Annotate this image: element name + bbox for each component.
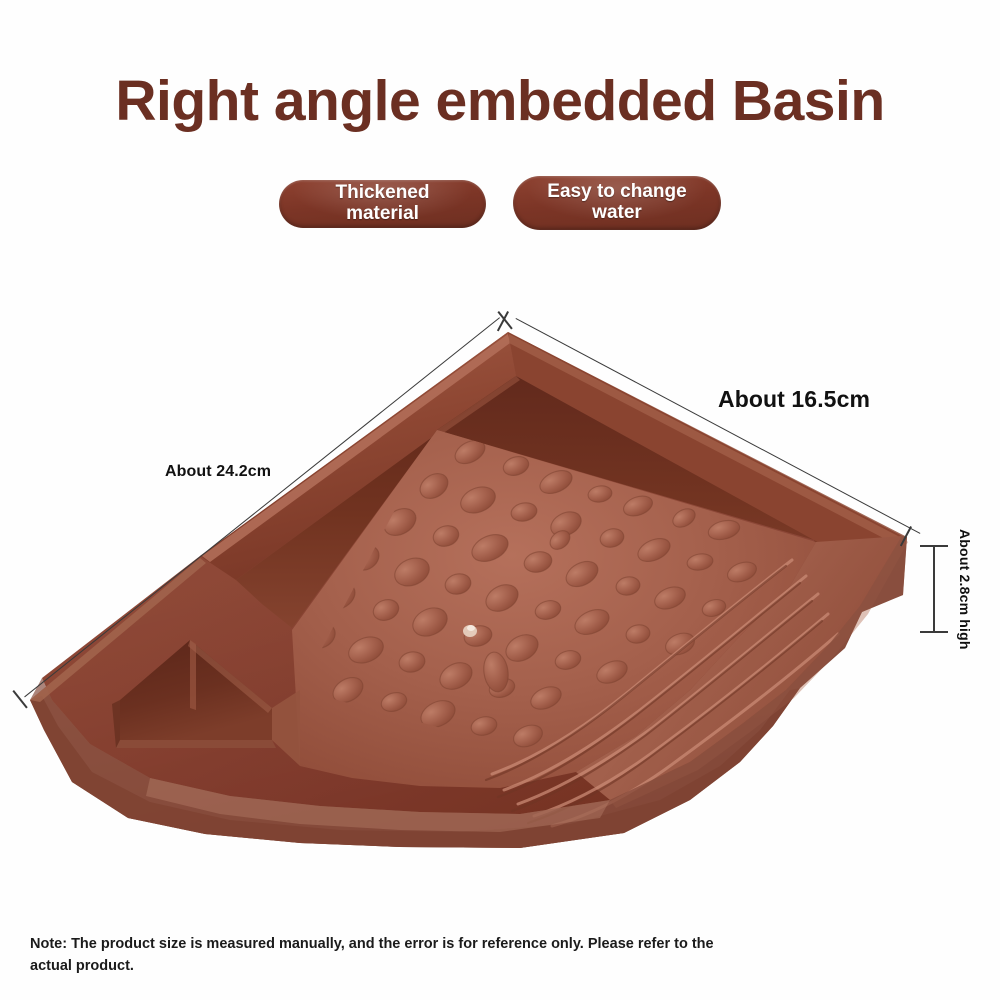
dimension-label-length: About 24.2cm <box>165 463 271 481</box>
basin-left-slot <box>112 640 300 766</box>
dimension-line-length <box>24 317 500 697</box>
badge-easy-to-change-water: Easy to change water <box>513 176 721 230</box>
product-image-canvas: Right angle embedded Basin Thickened mat… <box>0 0 1000 1000</box>
basin-pebble-texture <box>304 436 759 780</box>
basin-rim <box>200 332 902 580</box>
dimension-line-height <box>933 546 935 632</box>
dimension-label-width: About 16.5cm <box>718 386 870 413</box>
feature-badge-row: Thickened material Easy to change water <box>0 176 1000 236</box>
page-title: Right angle embedded Basin <box>0 68 1000 134</box>
basin-outer-edges <box>30 536 907 848</box>
product-photo <box>0 0 1000 1000</box>
dimension-label-height: About 2.8cm high <box>957 529 973 650</box>
dimension-tick-width-end <box>900 526 912 546</box>
badge-thickened-material: Thickened material <box>279 180 486 228</box>
dimension-cap-height-bottom <box>920 631 948 633</box>
disclaimer-note: Note: The product size is measured manua… <box>30 934 730 978</box>
dimension-line-width <box>515 318 920 534</box>
basin-interior-floor <box>292 430 816 788</box>
basin-rim-inner-wall <box>236 376 872 636</box>
badge-easy-to-change-water-label: Easy to change water <box>533 182 701 223</box>
dimension-cap-height-top <box>920 545 948 547</box>
badge-thickened-material-label: Thickened material <box>299 183 466 224</box>
basin-drain-ridges <box>486 536 908 826</box>
dimension-tick-length-end <box>13 690 28 708</box>
